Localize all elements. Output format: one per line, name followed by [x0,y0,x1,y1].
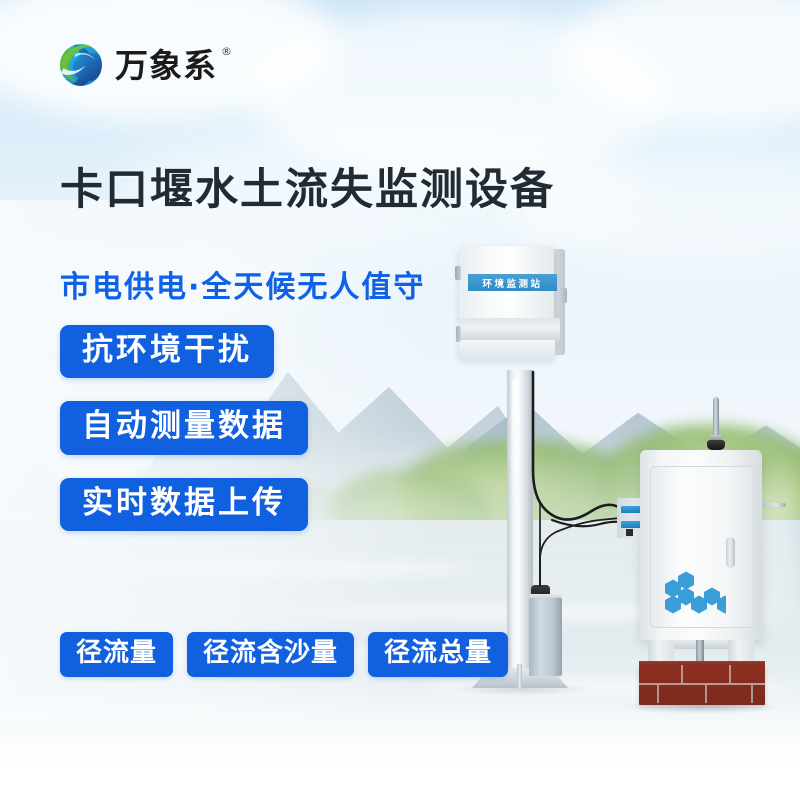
registered-mark: ® [221,46,233,57]
brand-name-wrapper: 万象系 ® [115,49,233,82]
sensor-antenna-icon [539,503,541,587]
connector-terminal-icon [621,506,641,513]
brick-mortar-line [657,685,659,703]
latch-icon [455,266,461,280]
poster-canvas: 环境监测站 [0,0,800,800]
globe-swoosh-logo-icon [56,40,106,90]
pole-highlight [512,380,519,530]
antenna-base-icon [707,440,725,450]
brick-mortar-line [729,665,731,683]
page-title: 卡口堰水土流失监测设备 [60,155,555,217]
pole-base-rib [517,664,522,688]
feature-badge[interactable]: 抗环境干扰 [60,325,274,378]
brand-logo[interactable]: 万象系 ® [56,40,233,90]
feature-badge[interactable]: 实时数据上传 [60,478,308,531]
monitor-station-lower-body [459,340,555,360]
brick-plinth-icon [639,665,765,705]
door-handle-icon [726,537,735,568]
monitor-station-label: 环境监测站 [468,274,557,291]
metric-tag[interactable]: 径流含沙量 [187,632,354,677]
brick-mortar-line [681,665,683,683]
page-subtitle: 市电供电·全天候无人值守 [60,262,425,306]
brick-mortar-line [705,685,707,703]
metric-tag-list: 径流量 径流含沙量 径流总量 [60,632,508,677]
feature-badge[interactable]: 自动测量数据 [60,401,308,454]
feature-badge-list: 抗环境干扰 自动测量数据 实时数据上传 [60,325,308,531]
metric-tag[interactable]: 径流总量 [368,632,508,677]
latch-icon [456,326,461,342]
cable-gland-icon [626,529,633,536]
brick-mortar-line [751,685,753,703]
brand-name: 万象系 [115,46,217,85]
monitor-station-lower-lip [456,318,560,342]
sensor-box-icon [529,598,562,676]
latch-icon [559,288,567,303]
metric-tag[interactable]: 径流量 [60,632,173,677]
connector-terminal-icon [621,521,641,528]
cabinet-side-arm-icon [762,503,786,507]
hexagon-pattern-icon [656,568,726,616]
